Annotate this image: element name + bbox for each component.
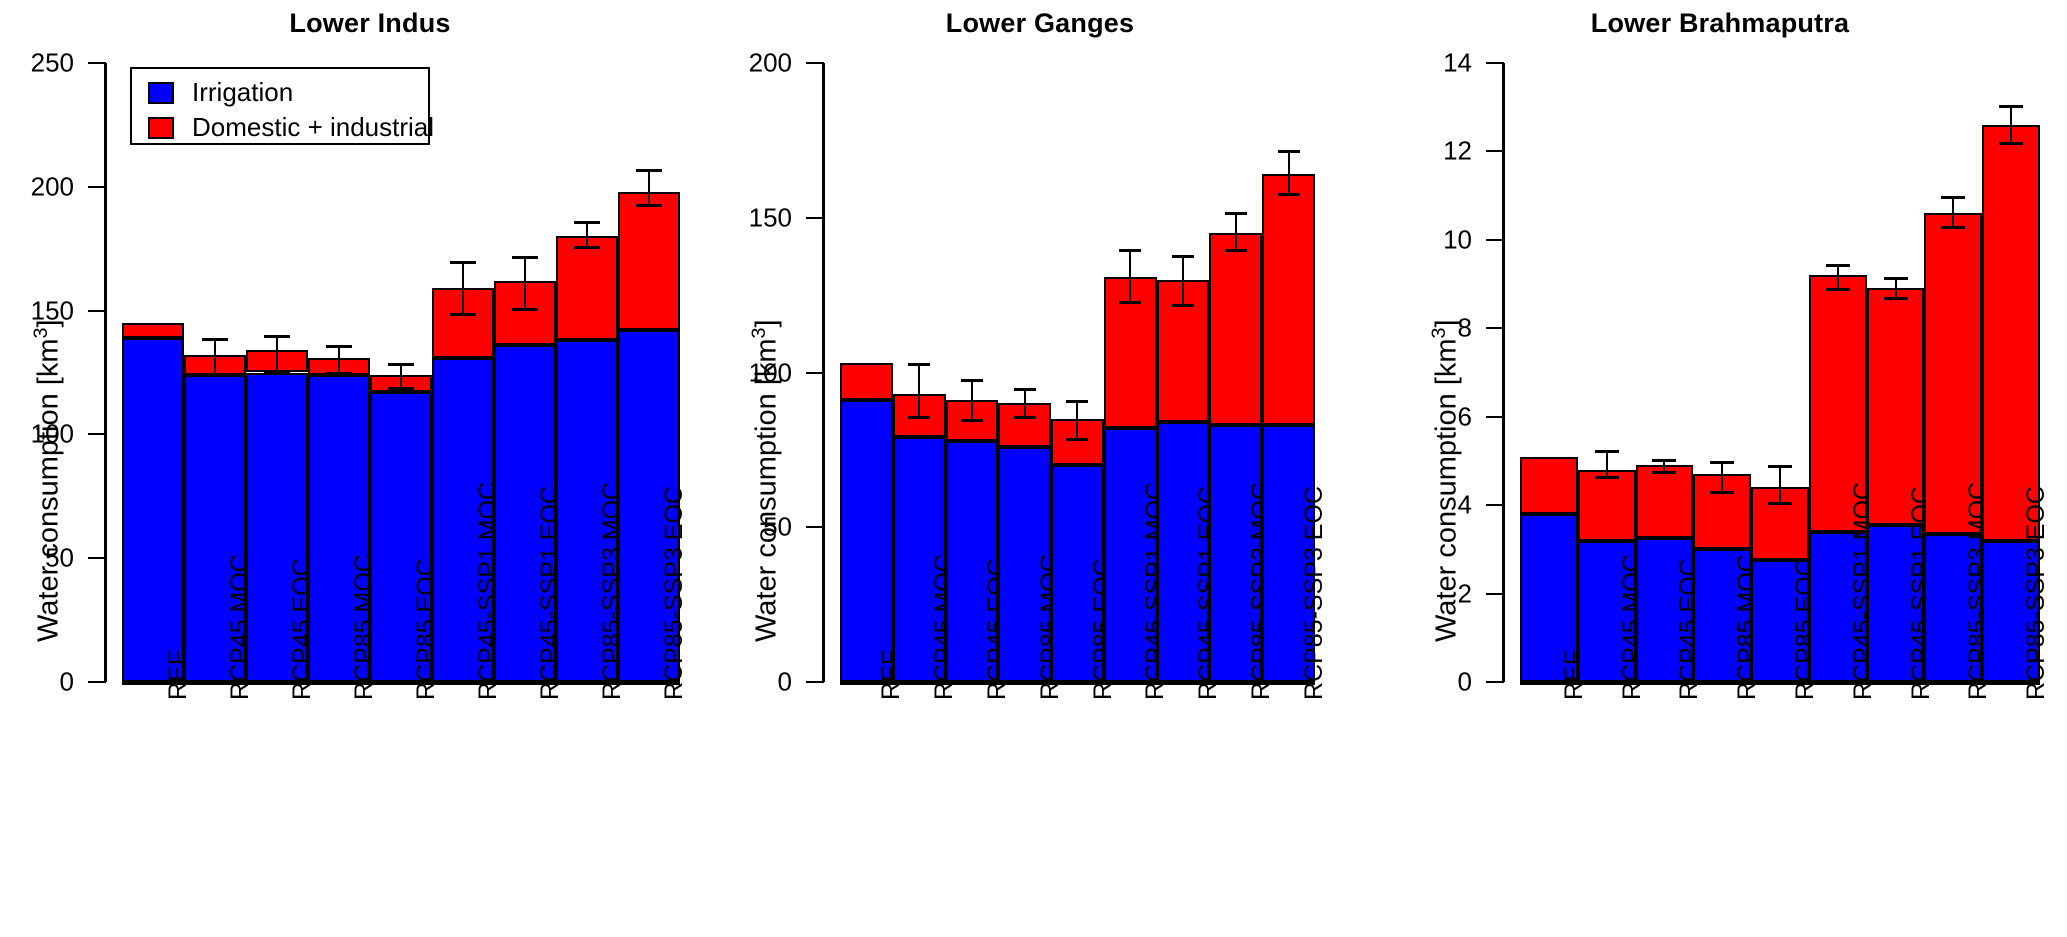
- error-bar-cap-upper: [388, 363, 414, 366]
- error-bar: [1982, 105, 2040, 145]
- error-bar-cap-upper: [264, 335, 290, 338]
- error-bar-cap-upper: [908, 363, 930, 366]
- error-bar-cap-upper: [326, 345, 352, 348]
- legend-label-irrigation: Irrigation: [192, 77, 293, 108]
- error-bar: [1157, 255, 1210, 308]
- legend-item-irrigation[interactable]: Irrigation: [148, 77, 293, 108]
- error-bar-line: [1721, 461, 1723, 494]
- error-bar-cap-upper: [1172, 255, 1194, 258]
- error-bar-cap-upper: [961, 379, 983, 382]
- y-axis-tick: [88, 62, 106, 64]
- error-bar: [1867, 277, 1925, 299]
- y-axis-tick-label: 10: [1360, 224, 1472, 255]
- bar-segment-domestic-industrial[interactable]: [1262, 174, 1315, 425]
- y-axis-tick: [88, 186, 106, 188]
- error-bar-cap-lower: [1225, 249, 1247, 252]
- error-bar-cap-upper: [1768, 465, 1792, 468]
- error-bar-line: [1129, 249, 1131, 305]
- error-bar-cap-lower: [1066, 438, 1088, 441]
- error-bar-line: [1779, 465, 1781, 505]
- error-bar-cap-lower: [450, 313, 476, 316]
- error-bar-cap-upper: [1710, 461, 1734, 464]
- bar-segment-domestic-industrial[interactable]: [122, 323, 184, 338]
- bar-segment-domestic-industrial[interactable]: [1520, 457, 1578, 514]
- legend-label-domestic_industrial: Domestic + industrial: [192, 112, 434, 143]
- y-axis-tick-label: 8: [1360, 313, 1472, 344]
- error-bar-cap-lower: [636, 204, 662, 207]
- error-bar: [184, 338, 246, 378]
- error-bar-cap-lower: [1278, 193, 1300, 196]
- y-axis-tick: [806, 62, 824, 64]
- error-bar-line: [400, 363, 402, 390]
- error-bar-cap-lower: [1172, 304, 1194, 307]
- error-bar-cap-upper: [1014, 388, 1036, 391]
- error-bar: [1693, 461, 1751, 494]
- error-bar-cap-lower: [961, 419, 983, 422]
- error-bar-line: [338, 345, 340, 375]
- error-bar-cap-lower: [1595, 476, 1619, 479]
- y-axis-tick: [1486, 327, 1504, 329]
- error-bar: [893, 363, 946, 419]
- error-bar: [1104, 249, 1157, 305]
- y-axis-tick: [1486, 62, 1504, 64]
- y-axis-tick: [88, 433, 106, 435]
- error-bar-cap-upper: [1826, 264, 1850, 267]
- y-axis-tick-label: 150: [0, 295, 74, 326]
- y-axis-tick-label: 200: [0, 171, 74, 202]
- error-bar: [556, 221, 618, 248]
- error-bar: [618, 169, 680, 206]
- panel-title: Lower Brahmaputra: [1380, 8, 2060, 39]
- legend-swatch-irrigation: [148, 82, 174, 104]
- y-axis-tick: [1486, 681, 1504, 683]
- error-bar-line: [276, 335, 278, 375]
- legend-item-domestic_industrial[interactable]: Domestic + industrial: [148, 112, 434, 143]
- error-bar-line: [214, 338, 216, 378]
- error-bar: [494, 256, 556, 310]
- error-bar-cap-lower: [1768, 502, 1792, 505]
- error-bar-cap-upper: [1652, 459, 1676, 462]
- error-bar-line: [1235, 212, 1237, 252]
- y-axis-tick: [1486, 504, 1504, 506]
- error-bar-line: [2010, 105, 2012, 145]
- error-bar: [1636, 459, 1694, 474]
- y-axis-tick: [88, 557, 106, 559]
- error-bar-cap-upper: [512, 256, 538, 259]
- y-axis-tick: [1486, 416, 1504, 418]
- x-axis-tick-label: RCP85-SSP3 EOC: [1300, 486, 1329, 700]
- y-axis-tick-label: 100: [0, 419, 74, 450]
- x-axis-tick-label: RCP85-SSP3 EOC: [2022, 486, 2051, 700]
- bar-segment-domestic-industrial[interactable]: [840, 363, 893, 400]
- bar-segment-irrigation[interactable]: [840, 400, 893, 682]
- error-bar-cap-upper: [450, 261, 476, 264]
- error-bar-cap-lower: [202, 374, 228, 377]
- error-bar-cap-upper: [1119, 249, 1141, 252]
- x-axis-line: [1520, 682, 2040, 685]
- error-bar-line: [1952, 196, 1954, 229]
- error-bar-line: [586, 221, 588, 248]
- error-bar-cap-upper: [1884, 277, 1908, 280]
- error-bar-cap-upper: [1595, 450, 1619, 453]
- error-bar-cap-lower: [1119, 301, 1141, 304]
- error-bar-cap-lower: [326, 372, 352, 375]
- error-bar-cap-lower: [574, 246, 600, 249]
- error-bar: [370, 363, 432, 390]
- bar-segment-domestic-industrial[interactable]: [556, 236, 618, 340]
- error-bar: [946, 379, 999, 422]
- y-axis-tick-label: 6: [1360, 401, 1472, 432]
- y-axis-tick: [1486, 150, 1504, 152]
- y-axis-tick-label: 2: [1360, 578, 1472, 609]
- y-axis-tick: [806, 372, 824, 374]
- y-axis-tick: [1486, 239, 1504, 241]
- error-bar-cap-lower: [1826, 288, 1850, 291]
- y-axis-tick: [88, 310, 106, 312]
- error-bar-cap-lower: [1710, 491, 1734, 494]
- y-axis-tick-label: 4: [1360, 490, 1472, 521]
- error-bar-cap-upper: [1225, 212, 1247, 215]
- error-bar-line: [1076, 400, 1078, 440]
- y-axis-label: Water consumption [km3]: [30, 319, 66, 642]
- error-bar-line: [1288, 150, 1290, 196]
- y-axis-tick-label: 0: [1360, 667, 1472, 698]
- panel-title: Lower Ganges: [700, 8, 1380, 39]
- bar-segment-domestic-industrial[interactable]: [618, 192, 680, 331]
- error-bar-cap-upper: [636, 169, 662, 172]
- y-axis-tick: [88, 681, 106, 683]
- error-bar-cap-lower: [1014, 416, 1036, 419]
- error-bar-line: [918, 363, 920, 419]
- error-bar-line: [524, 256, 526, 310]
- error-bar: [1051, 400, 1104, 440]
- y-axis-tick: [806, 526, 824, 528]
- error-bar: [998, 388, 1051, 419]
- error-bar-cap-lower: [264, 372, 290, 375]
- y-axis-tick-label: 50: [680, 512, 792, 543]
- y-axis-tick-label: 0: [0, 667, 74, 698]
- error-bar: [1751, 465, 1809, 505]
- y-axis-line: [104, 63, 107, 682]
- bar-segment-domestic-industrial[interactable]: [1578, 470, 1636, 541]
- y-axis-tick-label: 14: [1360, 48, 1472, 79]
- y-axis-tick-label: 12: [1360, 136, 1472, 167]
- error-bar-cap-upper: [202, 338, 228, 341]
- error-bar-cap-lower: [1941, 226, 1965, 229]
- y-axis-line: [1502, 63, 1505, 682]
- bar-segment-domestic-industrial[interactable]: [1982, 125, 2040, 541]
- legend-swatch-domestic_industrial: [148, 117, 174, 139]
- y-axis-tick: [806, 217, 824, 219]
- error-bar: [1809, 264, 1867, 291]
- y-axis-tick-label: 0: [680, 667, 792, 698]
- panel-title: Lower Indus: [30, 8, 710, 39]
- x-axis-line: [122, 682, 680, 685]
- error-bar: [308, 345, 370, 375]
- error-bar-line: [1606, 450, 1608, 479]
- y-axis-tick-label: 250: [0, 48, 74, 79]
- y-axis-tick: [806, 681, 824, 683]
- error-bar-cap-lower: [908, 416, 930, 419]
- error-bar: [1578, 450, 1636, 479]
- error-bar-cap-lower: [1999, 142, 2023, 145]
- error-bar-line: [648, 169, 650, 206]
- error-bar-cap-upper: [1941, 196, 1965, 199]
- error-bar-cap-lower: [512, 308, 538, 311]
- error-bar: [246, 335, 308, 375]
- error-bar-line: [1024, 388, 1026, 419]
- error-bar-line: [462, 261, 464, 315]
- error-bar-cap-upper: [1999, 105, 2023, 108]
- error-bar-cap-upper: [1278, 150, 1300, 153]
- bar-segment-domestic-industrial[interactable]: [1636, 465, 1694, 538]
- x-axis-line: [840, 682, 1315, 685]
- error-bar: [1262, 150, 1315, 196]
- error-bar-cap-upper: [574, 221, 600, 224]
- error-bar-line: [1182, 255, 1184, 308]
- y-axis-tick-label: 150: [680, 202, 792, 233]
- bar-segment-irrigation[interactable]: [122, 338, 184, 682]
- error-bar-cap-lower: [1884, 297, 1908, 300]
- error-bar: [1924, 196, 1982, 229]
- y-axis-tick-label: 100: [680, 357, 792, 388]
- y-axis-tick: [1486, 593, 1504, 595]
- error-bar: [1209, 212, 1262, 252]
- error-bar-cap-lower: [1652, 471, 1676, 474]
- error-bar-line: [971, 379, 973, 422]
- y-axis-tick-label: 50: [0, 543, 74, 574]
- error-bar: [432, 261, 494, 315]
- error-bar-cap-lower: [388, 387, 414, 390]
- error-bar-cap-upper: [1066, 400, 1088, 403]
- figure-root: Lower IndusWater consumption [km3]050100…: [0, 0, 2067, 937]
- y-axis-tick-label: 200: [680, 48, 792, 79]
- bar-segment-domestic-industrial[interactable]: [1209, 233, 1262, 425]
